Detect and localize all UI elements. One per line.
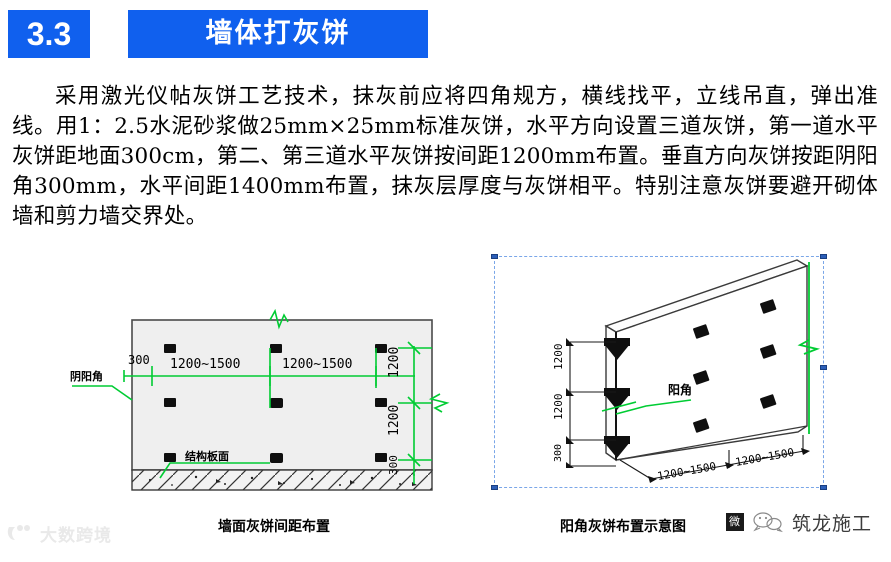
left-figure-wall-elevation: 阴阳角 结构板面 300 1200~1500 1200~1500 1200 12… xyxy=(20,288,490,518)
wall-face xyxy=(132,320,432,470)
section-title-bar: 墙体打灰饼 xyxy=(128,10,428,58)
dim-v-1200-a: 1200 xyxy=(387,347,402,378)
callout-inner-outer-corner-label: 阴阳角 xyxy=(70,369,103,383)
selection-handle-bottom-left[interactable] xyxy=(491,485,498,490)
wechat-icon xyxy=(751,511,785,533)
dim-h-300: 300 xyxy=(128,353,150,367)
callout-structural-slab-label: 结构板面 xyxy=(184,449,229,463)
dim-h-1200-1500-a: 1200~1500 xyxy=(170,357,240,372)
selection-handle-bottom-right[interactable] xyxy=(820,485,827,490)
selection-handle-middle-right[interactable] xyxy=(820,365,827,370)
dim-v-300: 300 xyxy=(387,455,400,475)
watermark-bottom-right: 微 筑龙施工 xyxy=(726,505,886,539)
slide-header: 3.3 墙体打灰饼 xyxy=(0,0,891,72)
dashu-logo-icon xyxy=(6,523,36,543)
body-paragraph: 采用激光仪帖灰饼工艺技术，抹灰前应将四角规方，横线找平，立线吊直，弹出准线。用1… xyxy=(12,82,878,232)
watermark-bottom-left: 大数跨境 xyxy=(6,516,122,550)
left-figure-caption: 墙面灰饼间距布置 xyxy=(218,516,330,536)
right-figure-caption: 阳角灰饼布置示意图 xyxy=(560,516,686,536)
watermark-bottom-left-text: 大数跨境 xyxy=(40,521,112,546)
right-figure-selection-marquee[interactable] xyxy=(494,256,824,488)
watermark-bottom-right-text: 筑龙施工 xyxy=(792,509,872,536)
callout-inner-outer-corner: 阴阳角 xyxy=(70,369,132,400)
selection-handle-top-right[interactable] xyxy=(820,254,827,259)
wechat-badge-icon: 微 xyxy=(726,513,744,531)
dim-v-1200-b: 1200 xyxy=(387,405,402,436)
section-number-badge: 3.3 xyxy=(8,10,90,58)
dim-h-1200-1500-b: 1200~1500 xyxy=(282,357,352,372)
selection-handle-top-left[interactable] xyxy=(491,254,498,259)
